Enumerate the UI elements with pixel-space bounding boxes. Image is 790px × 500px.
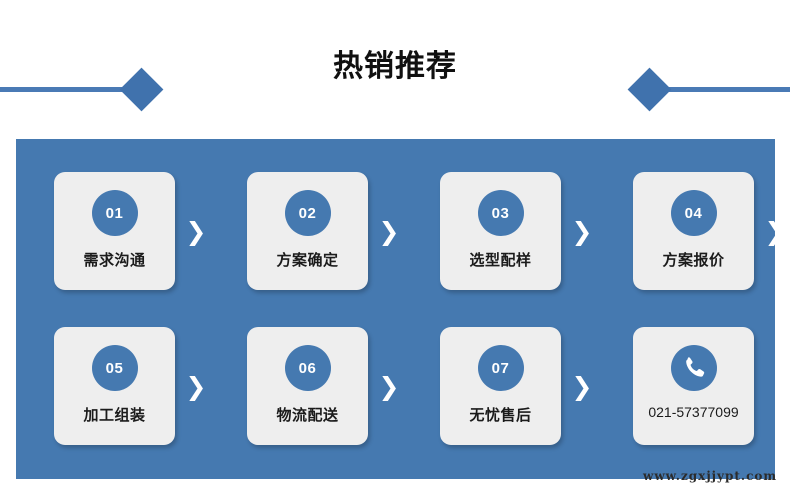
step-label: 需求沟通 xyxy=(83,249,145,270)
step-card-06[interactable]: 06 物流配送 xyxy=(247,327,368,445)
chevron-right-icon: ❯ xyxy=(569,219,595,244)
step-card-01[interactable]: 01 需求沟通 xyxy=(54,172,175,290)
chevron-right-icon: ❯ xyxy=(183,219,209,244)
step-card-02[interactable]: 02 方案确定 xyxy=(247,172,368,290)
process-flow-panel: 01 需求沟通 ❯ 02 方案确定 ❯ 03 选型配样 ❯ 04 方案报价 ❯ … xyxy=(16,139,775,479)
chevron-right-icon: ❯ xyxy=(183,374,209,399)
step-number-badge: 01 xyxy=(92,190,138,236)
step-number-badge: 07 xyxy=(478,345,524,391)
chevron-right-icon: ❯ xyxy=(376,219,402,244)
step-label: 物流配送 xyxy=(276,404,338,425)
step-label: 方案确定 xyxy=(276,249,338,270)
contact-phone-card[interactable]: 021-57377099 xyxy=(633,327,754,445)
step-label: 无忧售后 xyxy=(469,404,531,425)
site-watermark: www.zgxjjypt.com xyxy=(643,469,777,483)
chevron-right-icon: ❯ xyxy=(569,374,595,399)
step-card-07[interactable]: 07 无忧售后 xyxy=(440,327,561,445)
phone-icon xyxy=(671,345,717,391)
page-title: 热销推荐 xyxy=(0,44,790,90)
step-card-04[interactable]: 04 方案报价 xyxy=(633,172,754,290)
step-number-badge: 04 xyxy=(671,190,717,236)
step-number-badge: 06 xyxy=(285,345,331,391)
chevron-right-icon: ❯ xyxy=(376,374,402,399)
flow-row: 05 加工组装 ❯ 06 物流配送 ❯ 07 无忧售后 ❯ 021-573770… xyxy=(16,327,775,445)
flow-row: 01 需求沟通 ❯ 02 方案确定 ❯ 03 选型配样 ❯ 04 方案报价 ❯ xyxy=(16,172,775,290)
chevron-right-icon: ❯ xyxy=(762,219,788,244)
step-card-05[interactable]: 05 加工组装 xyxy=(54,327,175,445)
step-number-badge: 05 xyxy=(92,345,138,391)
step-number-badge: 03 xyxy=(478,190,524,236)
step-label: 选型配样 xyxy=(469,249,531,270)
step-number-badge: 02 xyxy=(285,190,331,236)
step-label: 方案报价 xyxy=(662,249,724,270)
contact-phone-number: 021-57377099 xyxy=(648,404,738,420)
page-header: 热销推荐 xyxy=(0,30,790,102)
step-label: 加工组装 xyxy=(83,404,145,425)
step-card-03[interactable]: 03 选型配样 xyxy=(440,172,561,290)
